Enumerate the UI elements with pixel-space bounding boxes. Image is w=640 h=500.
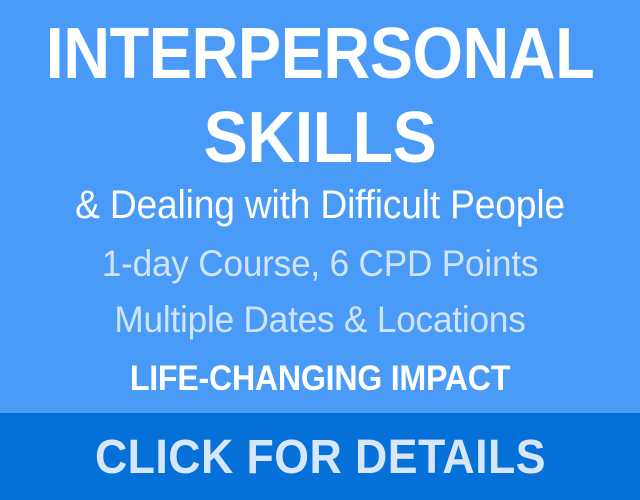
detail-line-dates-locations: Multiple Dates & Locations: [16, 301, 624, 338]
headline-line-1: INTERPERSONAL: [32, 18, 608, 90]
cta-button[interactable]: CLICK FOR DETAILS: [0, 413, 640, 500]
cta-button-label: CLICK FOR DETAILS: [95, 432, 546, 482]
subheadline: & Dealing with Difficult People: [22, 185, 617, 225]
banner-content-panel: INTERPERSONAL SKILLS & Dealing with Diff…: [0, 0, 640, 413]
detail-line-course-info: 1-day Course, 6 CPD Points: [16, 245, 624, 282]
headline-line-2: SKILLS: [26, 102, 615, 174]
advertisement-banner[interactable]: INTERPERSONAL SKILLS & Dealing with Diff…: [0, 0, 640, 500]
tagline: LIFE-CHANGING IMPACT: [26, 361, 615, 396]
